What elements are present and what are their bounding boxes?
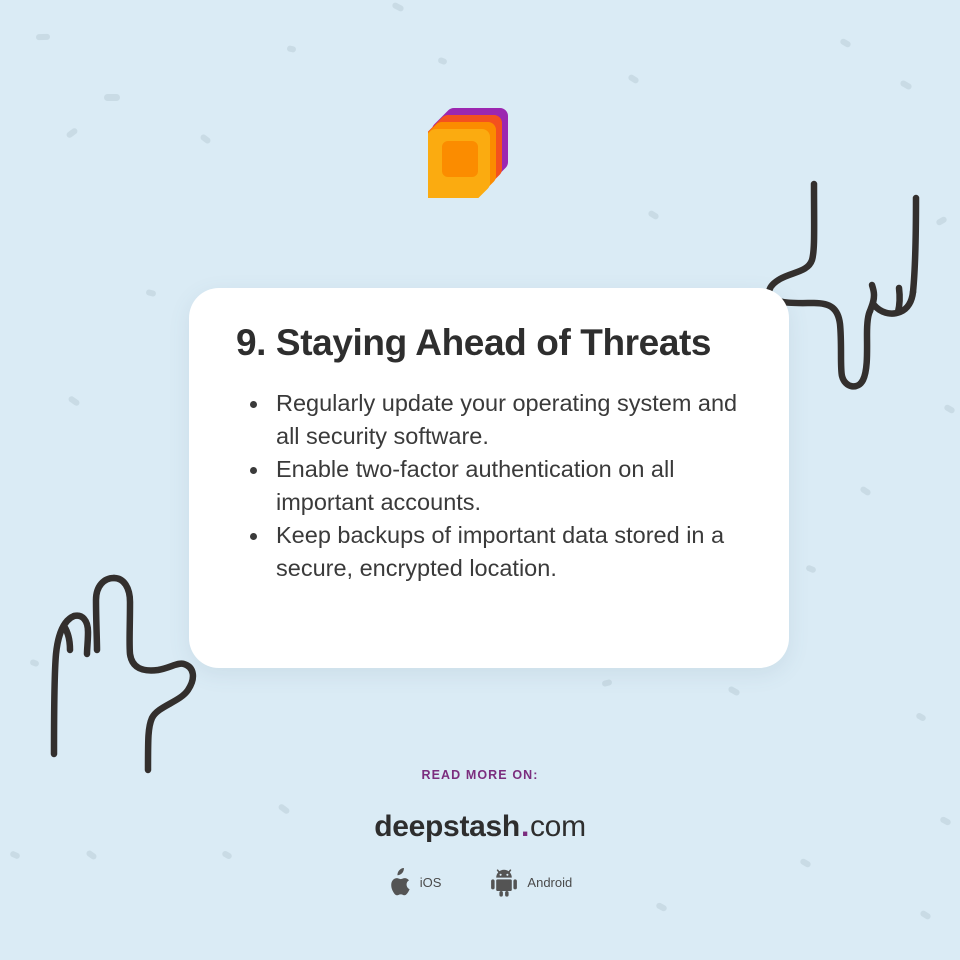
speckle-mark: [145, 289, 156, 297]
speckle-mark: [627, 74, 640, 85]
deepstash-wordmark[interactable]: deepstash.com: [0, 812, 960, 842]
apple-icon: [388, 868, 412, 897]
read-more-label: READ MORE ON:: [0, 768, 960, 782]
speckle-mark: [601, 679, 612, 687]
speckle-mark: [647, 210, 660, 221]
card-title: 9. Staying Ahead of Threats: [236, 322, 743, 365]
speckle-mark: [437, 57, 448, 66]
bullet-dot-icon: [250, 533, 257, 540]
bullet-text: Keep backups of important data stored in…: [276, 522, 724, 581]
bullet-list: Regularly update your operating system a…: [236, 387, 743, 585]
poster-canvas: 9. Staying Ahead of Threats Regularly up…: [0, 0, 960, 960]
speckle-mark: [29, 659, 40, 668]
speckle-mark: [655, 902, 668, 912]
speckle-mark: [943, 404, 956, 415]
speckle-mark: [805, 564, 817, 573]
wordmark-dot-separator: .: [521, 810, 529, 843]
wordmark-tld: com: [530, 810, 586, 843]
speckle-mark: [935, 216, 948, 227]
bullet-item: Regularly update your operating system a…: [236, 387, 743, 453]
speckle-mark: [199, 133, 211, 145]
speckle-mark: [727, 685, 740, 696]
store-badges: iOS: [0, 868, 960, 897]
speckle-mark: [104, 94, 120, 101]
android-store-badge[interactable]: Android: [489, 868, 572, 897]
ios-badge-label: iOS: [420, 875, 442, 890]
speckle-mark: [899, 79, 912, 90]
speckle-mark: [36, 34, 50, 40]
speckle-mark: [391, 2, 404, 13]
bullet-text: Enable two-factor authentication on all …: [276, 456, 674, 515]
content-card: 9. Staying Ahead of Threats Regularly up…: [189, 288, 789, 668]
android-icon: [489, 868, 519, 897]
deepstash-logo: [428, 104, 518, 198]
speckle-mark: [286, 45, 296, 53]
bullet-dot-icon: [250, 467, 257, 474]
bullet-text: Regularly update your operating system a…: [276, 390, 737, 449]
bullet-dot-icon: [250, 401, 257, 408]
speckle-mark: [839, 38, 852, 49]
speckle-mark: [65, 127, 78, 139]
bullet-item: Enable two-factor authentication on all …: [236, 453, 743, 519]
speckle-mark: [919, 910, 932, 921]
bullet-item: Keep backups of important data stored in…: [236, 519, 743, 585]
speckle-mark: [67, 395, 80, 407]
speckle-mark: [859, 485, 871, 496]
hand-pointing-up-illustration: [18, 558, 218, 788]
wordmark-name: deepstash: [374, 810, 520, 843]
speckle-mark: [915, 712, 927, 722]
android-badge-label: Android: [527, 875, 572, 890]
footer: READ MORE ON: deepstash.com iOS: [0, 768, 960, 897]
ios-store-badge[interactable]: iOS: [388, 868, 442, 897]
